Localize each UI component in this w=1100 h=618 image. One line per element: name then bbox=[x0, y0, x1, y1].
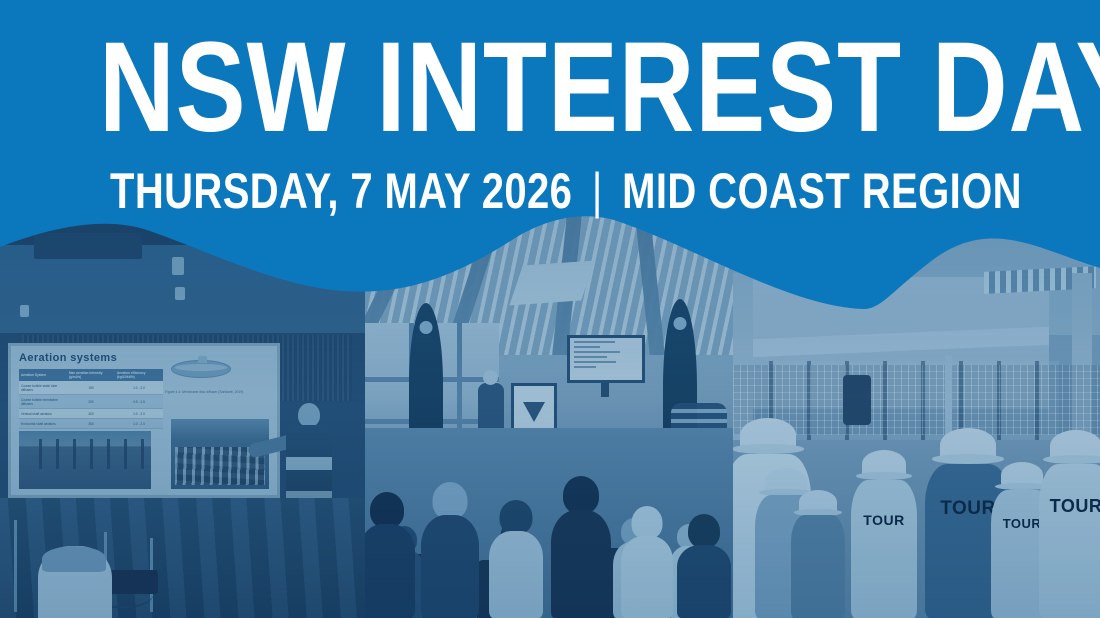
attendee bbox=[421, 482, 479, 618]
event-banner: Aeration systems Figure 4.4: Membrane di… bbox=[0, 0, 1100, 618]
vest-label: TOUR bbox=[863, 512, 904, 528]
slide-table-row: Vertical shaft aerators 300 1.0 - 2.0 bbox=[19, 409, 163, 419]
attendee-head bbox=[433, 482, 468, 519]
attendee-head bbox=[563, 476, 599, 514]
attendee bbox=[551, 476, 611, 618]
attendee-head bbox=[370, 492, 404, 528]
attendee-cap bbox=[42, 546, 106, 572]
attendee-body bbox=[365, 524, 415, 618]
slide-table-row: Coarse bubble static tube diffusers 150 … bbox=[19, 381, 163, 395]
attendee-body bbox=[551, 510, 611, 618]
hard-hat-icon bbox=[799, 490, 837, 514]
hard-hat-icon bbox=[1050, 430, 1100, 462]
hard-hat-icon bbox=[862, 450, 906, 478]
slide-col-0: Aeration System bbox=[19, 369, 67, 381]
event-region: MID COAST REGION bbox=[622, 163, 1022, 219]
vest-label: TOUR bbox=[940, 498, 995, 520]
attendee bbox=[489, 500, 543, 618]
attendee bbox=[621, 506, 673, 618]
hi-vis-stripe bbox=[286, 457, 332, 470]
tour-vest: TOUR bbox=[1039, 464, 1100, 618]
cell: 0.9 - 1.5 bbox=[115, 395, 163, 409]
cell: Horizontal shaft aerators bbox=[19, 419, 67, 429]
attendee-head bbox=[500, 500, 533, 534]
slide-photo-posts bbox=[25, 439, 145, 469]
cell: Coarse bubble static tube diffusers bbox=[19, 381, 67, 395]
event-subtitle: THURSDAY, 7 MAY 2026 | MID COAST REGION bbox=[110, 152, 990, 216]
cell: 150 bbox=[67, 381, 115, 395]
hard-hat-icon bbox=[940, 428, 996, 462]
cell: 1.0 - 2.0 bbox=[115, 381, 163, 395]
slide-col-2: Aeration efficiency (kgO2/kWh) bbox=[115, 369, 163, 381]
event-date: THURSDAY, 7 MAY 2026 bbox=[110, 163, 572, 219]
audience-group bbox=[365, 358, 733, 618]
presenter-head bbox=[298, 403, 320, 427]
stand-pole bbox=[14, 520, 17, 612]
attendee bbox=[365, 492, 415, 618]
tour-vest: TOUR bbox=[851, 480, 917, 618]
slide-table-row: Coarse bubble membrane diffusers 200 0.9… bbox=[19, 395, 163, 409]
cell: 350 bbox=[67, 419, 115, 429]
attendee-body bbox=[677, 545, 731, 618]
subtitle-separator: | bbox=[584, 166, 611, 216]
slide-col-1: Max aeration intensity (g/m2/s) bbox=[67, 369, 115, 381]
tour-participant: TOUR bbox=[1039, 430, 1100, 618]
attendee-body bbox=[489, 531, 543, 618]
tour-participant: TOUR bbox=[851, 450, 917, 618]
slide-table: Aeration System Max aeration intensity (… bbox=[19, 369, 163, 429]
cell: 200 bbox=[67, 395, 115, 409]
attendee bbox=[677, 514, 731, 618]
slide-site-photo-left bbox=[19, 431, 151, 489]
banner-text-block: NSW INTEREST DAY THURSDAY, 7 MAY 2026 | … bbox=[0, 0, 1100, 216]
tour-participant bbox=[791, 490, 845, 618]
slide-figure-caption: Figure 4.4: Membrane disc diffuser (Sani… bbox=[165, 390, 261, 394]
attendee-body bbox=[621, 536, 673, 618]
page-title: NSW INTEREST DAY bbox=[99, 0, 1001, 152]
pipe bbox=[945, 355, 952, 435]
slide-table-header-row: Aeration System Max aeration intensity (… bbox=[19, 369, 163, 381]
vest-label: TOUR bbox=[1050, 496, 1100, 517]
vest-label: TOUR bbox=[1003, 516, 1042, 531]
attendee-body bbox=[421, 515, 479, 618]
cell: 300 bbox=[67, 409, 115, 419]
hard-hat-icon bbox=[1001, 462, 1043, 488]
tour-vest bbox=[791, 515, 845, 618]
cell: Vertical shaft aerators bbox=[19, 409, 67, 419]
projection-screen: Aeration systems Figure 4.4: Membrane di… bbox=[8, 343, 280, 498]
storage-tank bbox=[843, 375, 871, 425]
attendee-head bbox=[688, 514, 720, 548]
cell: 1.0 - 2.0 bbox=[115, 419, 163, 429]
cell: Coarse bubble membrane diffusers bbox=[19, 395, 67, 409]
attendee-head bbox=[632, 506, 663, 539]
cell: 1.0 - 2.0 bbox=[115, 409, 163, 419]
hard-hat-icon bbox=[740, 418, 796, 452]
slide-table-row: Horizontal shaft aerators 350 1.0 - 2.0 bbox=[19, 419, 163, 429]
